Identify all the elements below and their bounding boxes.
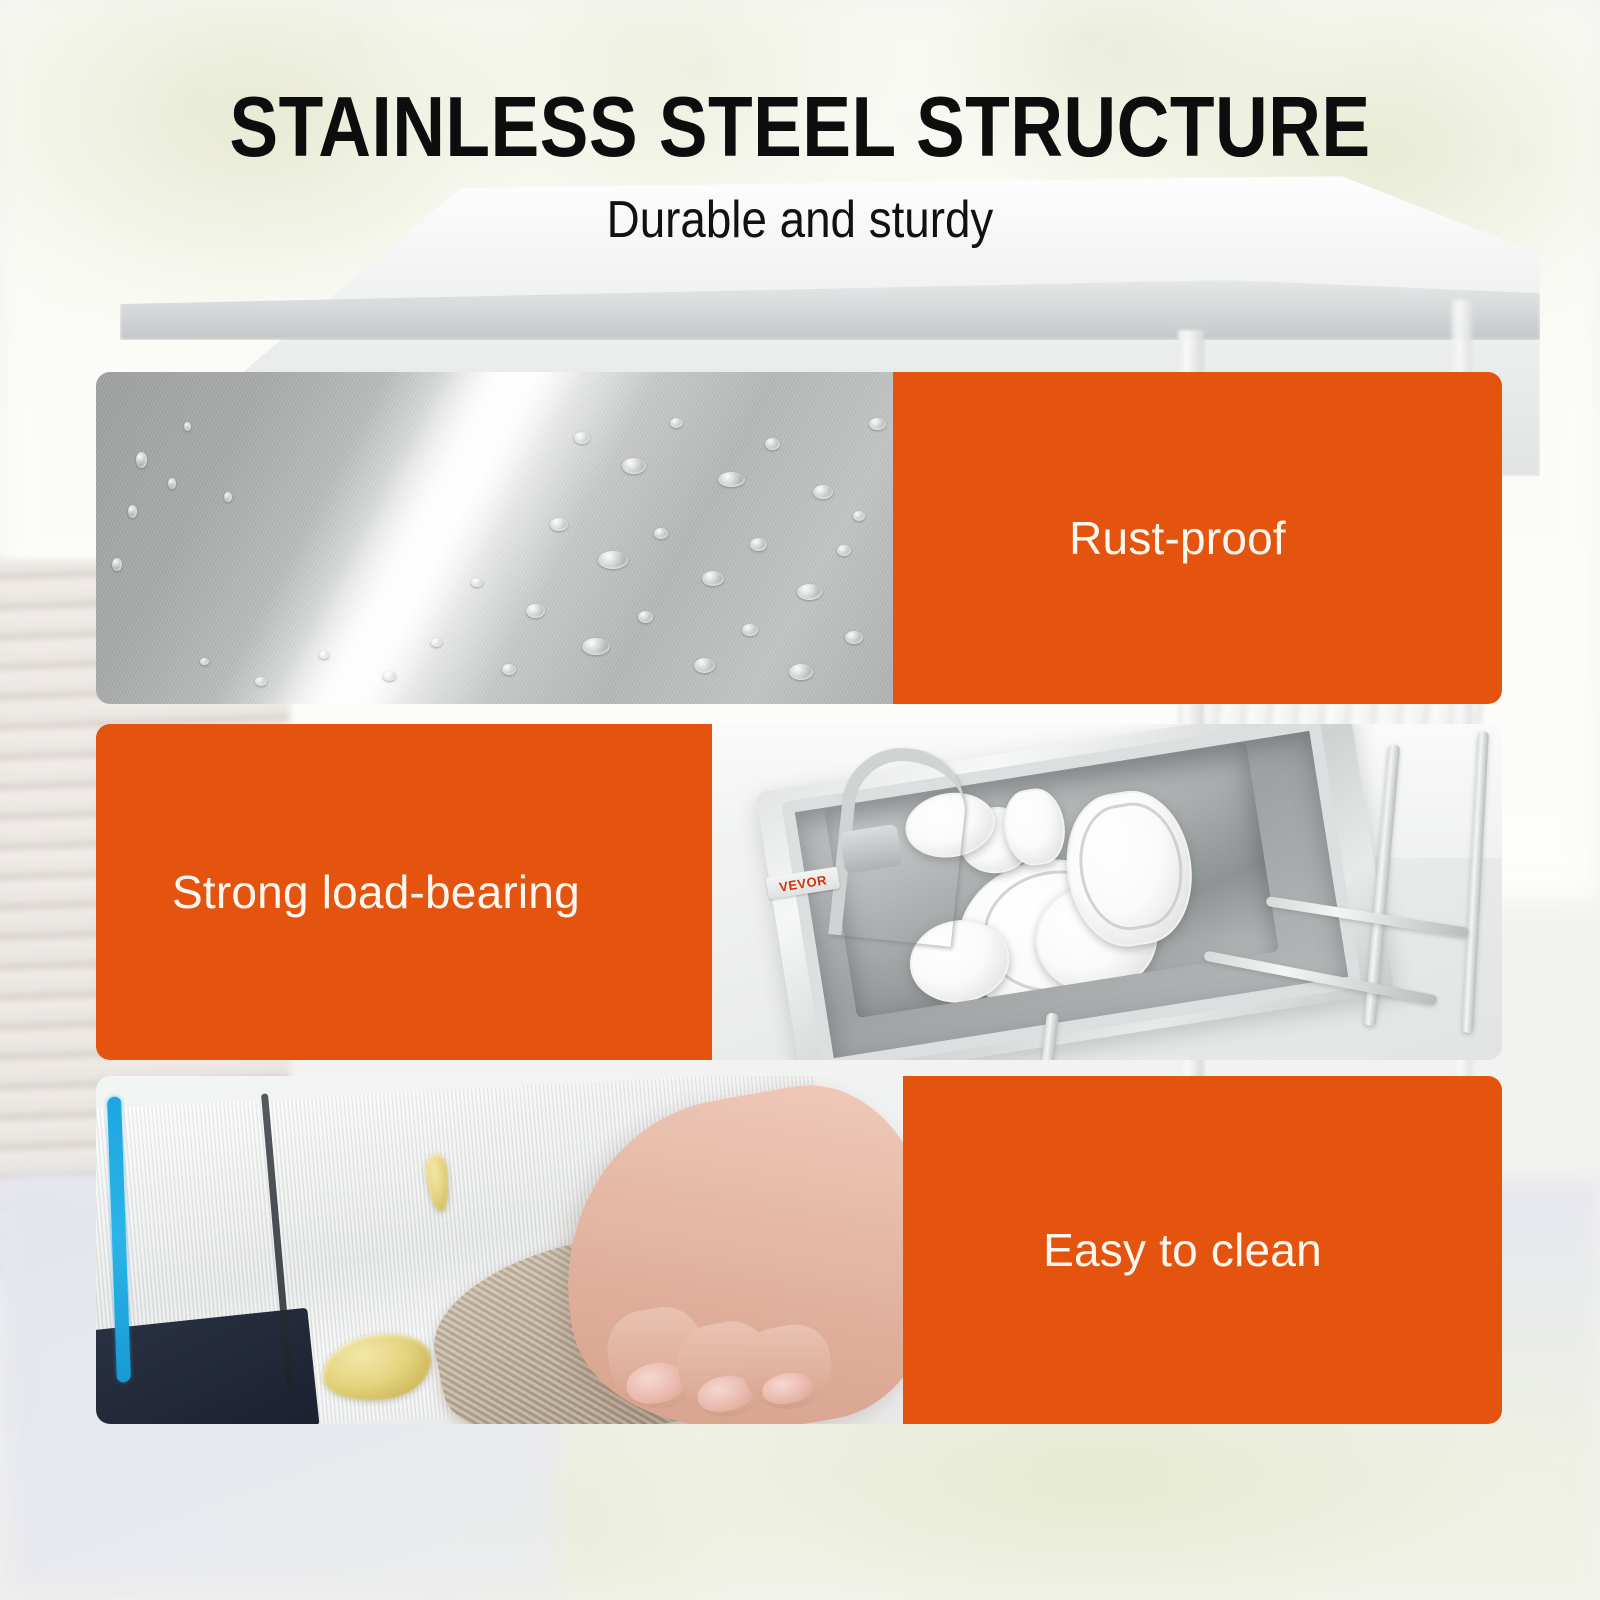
feature-caption-easy-to-clean: Easy to clean	[903, 1076, 1502, 1424]
feature-row-rust-proof: Rust-proof	[96, 372, 1502, 704]
water-droplets-group	[96, 372, 893, 704]
feature-row-strong-load-bearing: Strong load-bearing	[96, 724, 1502, 1060]
sink-scene-image: VEVOR	[712, 724, 1502, 1060]
feature-photo-easy-to-clean	[96, 1076, 903, 1424]
feature-caption-label: Strong load-bearing	[96, 866, 580, 919]
feature-caption-label: Rust-proof	[1069, 512, 1326, 565]
feature-row-easy-to-clean: Easy to clean	[96, 1076, 1502, 1424]
feature-caption-label: Easy to clean	[1043, 1224, 1362, 1277]
feature-photo-strong-load-bearing: VEVOR	[712, 724, 1502, 1060]
feature-photo-rust-proof	[96, 372, 893, 704]
wipe-scene-image	[96, 1076, 903, 1424]
product-feature-poster: STAINLESS STEEL STRUCTURE Durable and st…	[0, 0, 1600, 1600]
feature-caption-strong-load-bearing: Strong load-bearing	[96, 724, 712, 1060]
page-subtitle: Durable and sturdy	[96, 169, 1504, 248]
poster-headings: STAINLESS STEEL STRUCTURE Durable and st…	[0, 0, 1600, 247]
page-title: STAINLESS STEEL STRUCTURE	[112, 0, 1488, 169]
vevor-logo-text: VEVOR	[778, 872, 828, 894]
feature-caption-rust-proof: Rust-proof	[893, 372, 1502, 704]
fingernail	[760, 1369, 816, 1408]
